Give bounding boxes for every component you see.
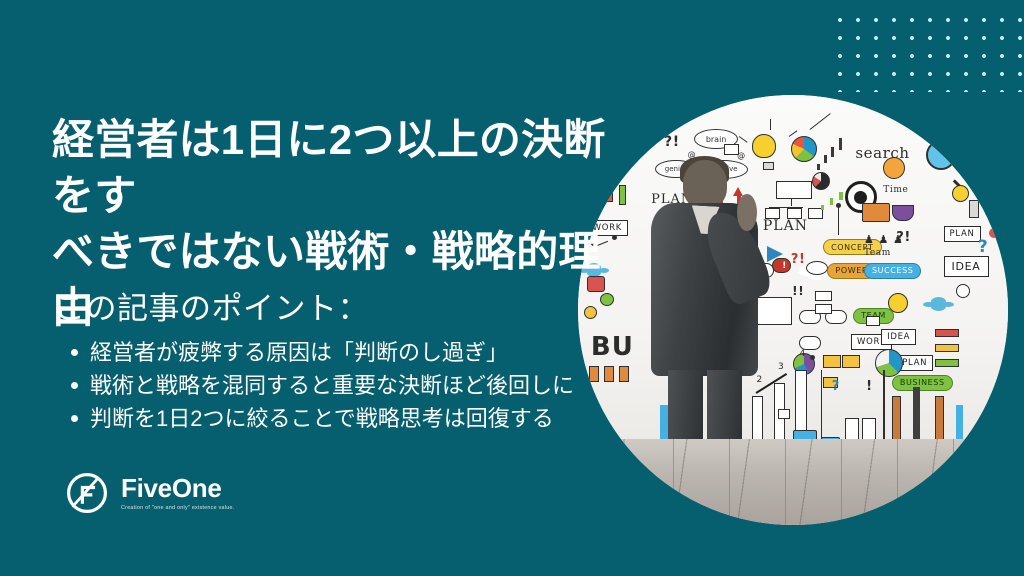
doodle-exclaim-2: ! [866,379,873,394]
dot-grid-decoration [828,8,1024,92]
doodle-label-idea-2: IDEA [881,329,916,345]
doodle-folder-2 [842,355,860,368]
points-list: 経営者が疲弊する原因は「判断のし過ぎ」 戦術と戦略を混同すると重要な決断ほど後回… [62,336,574,435]
doodle-speech-bubble-exclaim [772,258,791,273]
man-hand [737,194,757,231]
doodle-hbar-1 [935,329,959,337]
doodle-hbar-3 [935,359,959,367]
doodle-building-1 [969,200,979,218]
logo-tagline: Creation of "one and only" existence val… [121,505,234,511]
doodle-device-1 [845,418,859,440]
doodle-hbar-2 [935,344,959,352]
list-item: 経営者が疲弊する原因は「判断のし過ぎ」 [90,336,574,369]
doodle-orange-bar-1 [589,366,599,382]
doodle-envelope-1 [724,144,739,155]
doodle-red-dot [989,228,999,238]
hero-photo-content: ?! brain genius creative @ @ search [578,95,1008,525]
page-title-line-1: 経営者は1日に2つ以上の決断をす [52,112,642,224]
doodle-question-mark-2: ? [832,379,840,394]
doodle-question-exclaim-2: ?! [791,252,806,267]
doodle-question-exclaim-1: ?! [664,134,680,150]
doodle-orgchart-top [776,181,812,199]
doodle-bar-a4 [839,138,842,150]
doodle-node-4 [836,203,841,208]
doodle-pie-chart-right [875,349,903,377]
doodle-label-idea-1: IDEA [944,256,989,277]
doodle-label-time: Time [883,185,908,195]
doodle-question-exclaim-3: ?! [896,230,911,245]
doodle-label-plan-3: PLAN [944,226,981,242]
doodle-bar-a2 [824,155,827,163]
doodle-briefcase-top [862,203,890,222]
doodle-orgchart-leaf-3 [808,208,823,219]
doodle-question-mark-1: ? [978,237,988,257]
doodle-lock-icon [778,409,790,419]
doodle-bottom-bar-num-4: 4 [799,349,805,359]
doodle-thought-cloud [806,261,828,275]
logo-text-block: FiveOne Creation of "one and only" exist… [121,475,234,510]
brand-logo: FiveOne Creation of "one and only" exist… [64,470,234,516]
slide-canvas: ?! brain genius creative @ @ search [0,0,1024,576]
doodle-green-bar-2 [830,198,834,205]
doodle-concept-stem [838,205,839,235]
man-head [683,160,727,210]
doodle-pie-chart-top [791,136,817,162]
list-item: 判断を1日2つに絞ることで戦略思考は回復する [90,402,574,435]
doodle-label-bu: BU [591,332,634,362]
wooden-floor [578,439,1008,525]
five-one-circle-f-icon [64,470,110,516]
doodle-orange-bar-2 [604,366,614,382]
doodle-note-2 [815,304,832,314]
doodle-green-bar-3 [839,192,843,200]
doodle-cloud-3 [931,297,946,306]
doodle-bottom-bar-num-3: 3 [778,362,784,372]
logo-name: FiveOne [121,475,234,502]
businessman-figure [647,160,763,470]
doodle-label-team-1: Team [864,248,891,258]
doodle-label-business: BUSINESS [892,375,953,391]
doodle-double-exclaim: !! [792,284,804,298]
doodle-exclaim-in-bubble: ! [782,261,787,271]
points-heading: この記事のポイント： [54,283,369,328]
doodle-envelope-3 [866,316,880,326]
doodle-folder-1 [823,355,841,368]
doodle-lightbulb-ray-1 [770,119,771,130]
doodle-bar-a3 [831,147,834,157]
doodle-green-bar-1 [821,205,825,210]
doodle-note-1 [815,291,832,301]
doodle-bar-a1 [817,164,820,170]
doodle-coffee-cup [892,205,914,221]
doodle-label-success: SUCCESS [864,263,922,279]
doodle-label-plan-2: PLAN [763,218,808,234]
doodle-target-inner [854,191,867,204]
doodle-lightbulb-base [763,162,774,170]
list-item: 戦術と戦略を混同すると重要な決断ほど後回しに [90,369,574,402]
doodle-cloud-node-2 [799,336,821,350]
hero-photo-circle: ?! brain genius creative @ @ search [578,95,1008,525]
doodle-lightbulb-main [752,134,776,158]
doodle-device-2 [862,418,876,440]
doodle-orgchart-stem [791,198,792,206]
doodle-orange-bar-3 [619,366,629,382]
